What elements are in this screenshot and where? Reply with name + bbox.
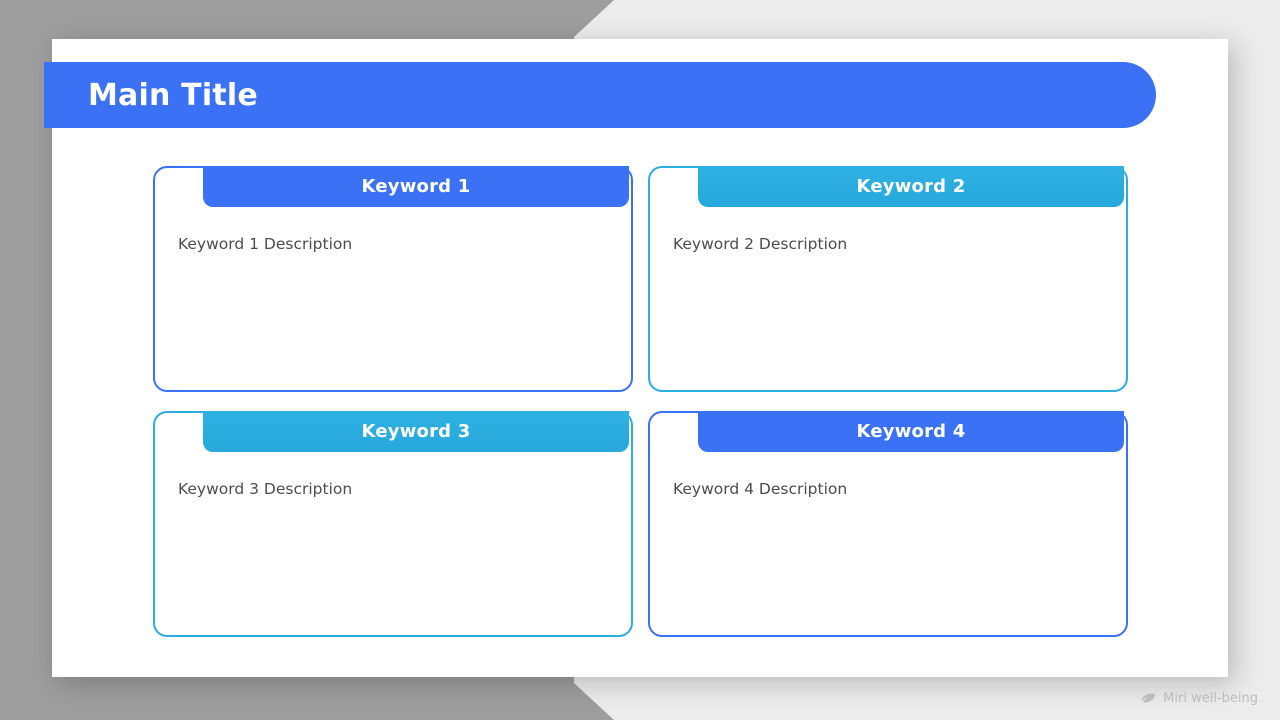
- keyword-card-3-description: Keyword 3 Description: [178, 479, 613, 500]
- keyword-card-4[interactable]: Keyword 4 Keyword 4 Description: [648, 411, 1128, 637]
- keyword-card-2-description: Keyword 2 Description: [673, 234, 1108, 255]
- page-title: Main Title: [88, 78, 258, 113]
- main-title-banner: Main Title: [44, 62, 1156, 128]
- keyword-card-1-description: Keyword 1 Description: [178, 234, 613, 255]
- keyword-card-1-title: Keyword 1: [203, 166, 629, 207]
- keyword-card-2-title: Keyword 2: [698, 166, 1124, 207]
- keyword-card-4-title: Keyword 4: [698, 411, 1124, 452]
- keyword-card-4-description: Keyword 4 Description: [673, 479, 1108, 500]
- watermark-label: Miri well-being: [1163, 691, 1258, 706]
- keyword-card-3-title: Keyword 3: [203, 411, 629, 452]
- keyword-card-3[interactable]: Keyword 3 Keyword 3 Description: [153, 411, 633, 637]
- keyword-card-1[interactable]: Keyword 1 Keyword 1 Description: [153, 166, 633, 392]
- keyword-card-grid: Keyword 1 Keyword 1 Description Keyword …: [153, 166, 1128, 639]
- leaf-icon: [1141, 693, 1156, 705]
- keyword-card-2[interactable]: Keyword 2 Keyword 2 Description: [648, 166, 1128, 392]
- watermark: Miri well-being: [1141, 691, 1258, 706]
